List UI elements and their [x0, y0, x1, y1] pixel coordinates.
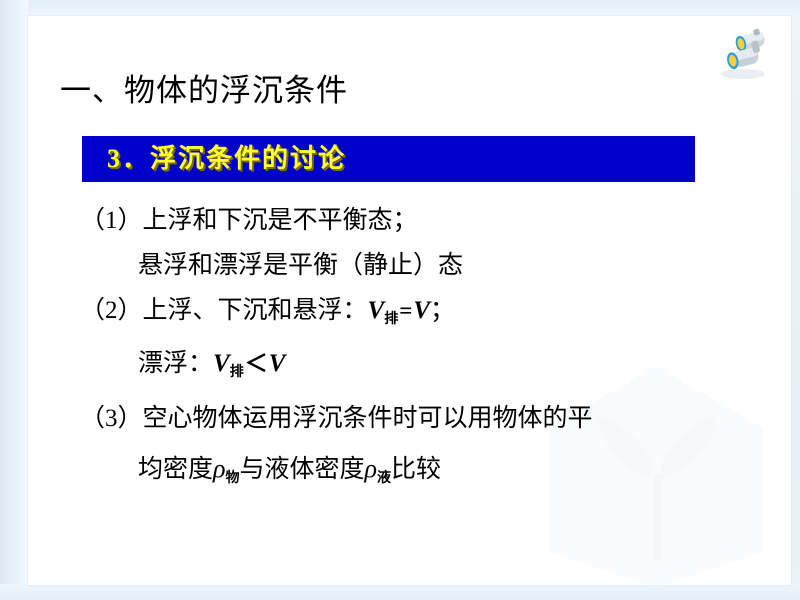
binoculars-icon — [713, 24, 773, 80]
point-3-line-2-suffix: 比较 — [391, 456, 441, 483]
section-banner: 3．浮沉条件的讨论 — [82, 136, 695, 182]
semicolon-1: ； — [430, 297, 455, 324]
point-3-line-1: （3）空心物体运用浮沉条件时可以用物体的平 — [80, 394, 780, 444]
point-2-line-2-text: 漂浮 — [138, 350, 188, 377]
point-1-line-1: （1）上浮和下沉是不平衡态； — [80, 198, 780, 243]
formula-v-drained-1: V排 — [368, 297, 399, 324]
page-title: 一、物体的浮沉条件 — [60, 71, 348, 111]
point-3-line-2: 均密度ρ物与液体密度ρ液比较 — [80, 444, 780, 502]
section-number: 3． — [107, 144, 150, 173]
formula-rho-liquid: ρ液 — [365, 454, 391, 483]
formula-rho-object: ρ物 — [213, 454, 239, 483]
equals-sign: = — [398, 298, 413, 323]
point-3-marker: （3） — [80, 394, 143, 444]
formula-v-total-2: V — [269, 350, 286, 377]
point-1-line-2-text: 悬浮和漂浮是平衡（静止）态 — [138, 252, 463, 279]
point-3-line-2-mid: 与液体密度 — [240, 456, 365, 483]
body-content: （1）上浮和下沉是不平衡态； 悬浮和漂浮是平衡（静止）态 （2）上浮、下沉和悬浮… — [80, 198, 780, 502]
slide-top-edge — [0, 0, 800, 16]
point-1-marker: （1） — [80, 198, 143, 243]
point-2-line-1: （2）上浮、下沉和悬浮：V排=V； — [80, 288, 780, 341]
section-banner-text: 3．浮沉条件的讨论 — [107, 140, 346, 178]
colon-1: ： — [343, 297, 368, 324]
subscript-pai-2: 排 — [230, 363, 244, 379]
subscript-pai-1: 排 — [384, 310, 398, 326]
slide-left-edge — [0, 0, 28, 600]
subscript-wu: 物 — [226, 469, 240, 485]
slide-canvas: 一、物体的浮沉条件 3．浮沉条件的讨论 （1）上浮和下沉是不平衡态； 悬浮和漂浮… — [0, 0, 800, 600]
point-2-marker: （2） — [80, 288, 143, 333]
point-1-line-2: 悬浮和漂浮是平衡（静止）态 — [80, 243, 780, 288]
point-2-line-2: 漂浮：V排＜V — [80, 341, 780, 394]
slide-content-card: 一、物体的浮沉条件 3．浮沉条件的讨论 （1）上浮和下沉是不平衡态； 悬浮和漂浮… — [28, 16, 791, 585]
point-3-line-1-text: 空心物体运用浮沉条件时可以用物体的平 — [143, 405, 593, 432]
point-2-line-1-text: 上浮、下沉和悬浮 — [143, 297, 343, 324]
formula-v-drained-2: V排 — [213, 350, 244, 377]
point-1-line-1-text: 上浮和下沉是不平衡态； — [143, 207, 418, 234]
slide-bottom-edge — [0, 584, 800, 600]
point-3-line-2-prefix: 均密度 — [138, 456, 213, 483]
less-than-sign: ＜ — [244, 351, 269, 376]
section-title: 浮沉条件的讨论 — [150, 144, 346, 173]
formula-v-total-1: V — [413, 297, 430, 324]
colon-2: ： — [188, 350, 213, 377]
subscript-ye: 液 — [377, 469, 391, 485]
